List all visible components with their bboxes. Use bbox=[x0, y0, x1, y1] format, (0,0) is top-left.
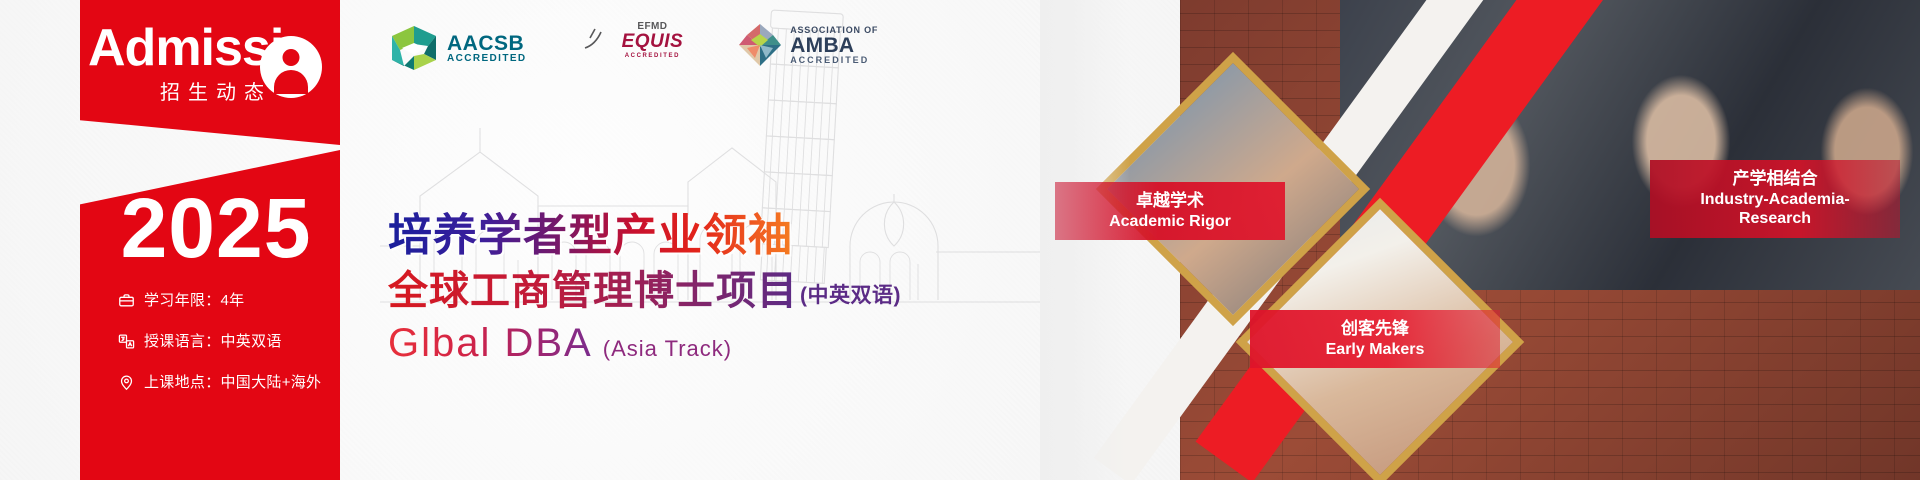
info-label-language: 授课语言：中英双语 bbox=[144, 334, 282, 349]
admission-banner: Admissi 招生动态 2025 学习年限：4年 授课语言：中英双语 bbox=[0, 0, 1920, 480]
admission-chinese-label: 招生动态 bbox=[160, 76, 272, 105]
aacsb-sub: ACCREDITED bbox=[447, 54, 527, 64]
label-industry-academia-cn: 产学相结合 bbox=[1666, 169, 1884, 190]
language-icon bbox=[118, 333, 135, 350]
info-row-duration: 学习年限：4年 bbox=[118, 292, 348, 309]
aacsb-logo-icon bbox=[388, 22, 440, 74]
program-info-list: 学习年限：4年 授课语言：中英双语 上课地点：中国大陆+海外 bbox=[118, 292, 348, 415]
headline-program-en: Glbal DBA bbox=[388, 320, 593, 366]
label-academic-rigor: 卓越学术 Academic Rigor bbox=[1055, 182, 1285, 240]
amba-diamond-icon bbox=[737, 22, 783, 68]
accreditation-equis: EFMD EQUIS ACCREDITED bbox=[581, 22, 684, 59]
label-industry-academia-en-1: Industry-Academia- bbox=[1666, 190, 1884, 210]
accreditation-aacsb: AACSB ACCREDITED bbox=[388, 22, 527, 74]
admission-logo: Admissi 招生动态 bbox=[88, 22, 338, 132]
info-label-duration: 学习年限：4年 bbox=[144, 293, 244, 308]
headline-block: 培养学者型产业领袖 全球工商管理博士项目 (中英双语) Glbal DBA (A… bbox=[388, 212, 901, 366]
equis-sub: ACCREDITED bbox=[625, 53, 680, 59]
briefcase-icon bbox=[118, 292, 135, 309]
info-label-location: 上课地点：中国大陆+海外 bbox=[144, 375, 321, 390]
label-academic-rigor-en: Academic Rigor bbox=[1071, 212, 1269, 232]
label-industry-academia: 产学相结合 Industry-Academia- Research bbox=[1650, 160, 1900, 238]
label-early-makers-cn: 创客先锋 bbox=[1266, 319, 1484, 340]
year-label: 2025 bbox=[96, 186, 336, 270]
amba-sub: ACCREDITED bbox=[790, 56, 878, 65]
amba-name: AMBA bbox=[790, 35, 878, 56]
info-row-location: 上课地点：中国大陆+海外 bbox=[118, 374, 348, 391]
label-academic-rigor-cn: 卓越学术 bbox=[1071, 191, 1269, 212]
label-early-makers-en: Early Makers bbox=[1266, 340, 1484, 360]
headline-program-cn: 全球工商管理博士项目 bbox=[388, 268, 798, 314]
accreditation-amba: ASSOCIATION OF AMBA ACCREDITED bbox=[737, 22, 878, 68]
headline-program-cn-suffix: (中英双语) bbox=[800, 279, 901, 314]
label-early-makers: 创客先锋 Early Makers bbox=[1250, 310, 1500, 368]
person-in-circle-icon bbox=[260, 36, 322, 98]
headline-tagline: 培养学者型产业领袖 bbox=[388, 212, 901, 260]
accreditation-logos: AACSB ACCREDITED EFMD EQUIS ACCREDITED bbox=[388, 22, 878, 74]
aacsb-name: AACSB bbox=[447, 33, 527, 54]
headline-program-en-suffix: (Asia Track) bbox=[603, 336, 732, 362]
equis-name: EQUIS bbox=[622, 32, 684, 51]
location-pin-icon bbox=[118, 374, 135, 391]
label-industry-academia-en-2: Research bbox=[1666, 209, 1884, 229]
equis-logo-icon bbox=[581, 26, 615, 56]
info-row-language: 授课语言：中英双语 bbox=[118, 333, 348, 350]
